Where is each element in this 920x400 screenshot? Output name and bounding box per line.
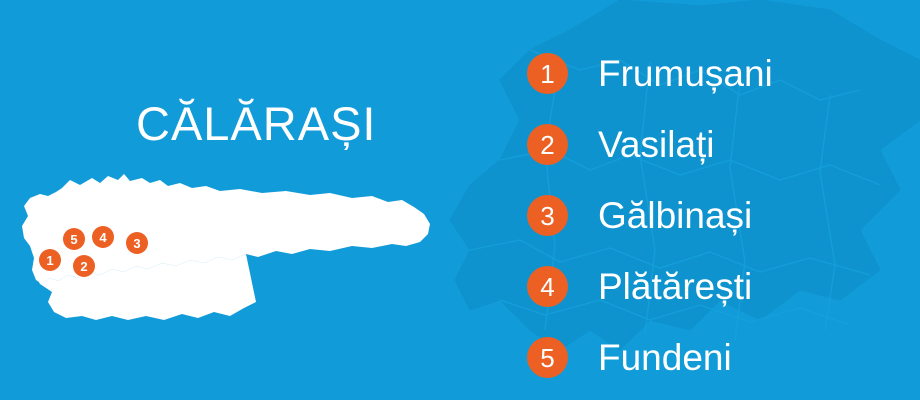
map-marker-1[interactable]: 1 <box>39 249 61 271</box>
legend-label-5: Fundeni <box>598 339 732 376</box>
legend-item-vasilati[interactable]: 2 Vasilați <box>527 109 907 180</box>
map-marker-5[interactable]: 5 <box>63 228 85 250</box>
region-title: CĂLĂRAȘI <box>136 100 376 147</box>
legend-item-fundeni[interactable]: 5 Fundeni <box>527 322 907 393</box>
legend-badge-2: 2 <box>527 124 568 165</box>
legend-badge-3: 3 <box>527 195 568 236</box>
map-infographic: CĂLĂRAȘI 1 2 3 4 5 1 Frumușani 2 Vasilaț… <box>0 0 920 400</box>
map-marker-2[interactable]: 2 <box>73 255 95 277</box>
legend-label-2: Vasilați <box>598 126 715 163</box>
legend-badge-1: 1 <box>527 53 568 94</box>
legend-badge-5: 5 <box>527 337 568 378</box>
calarasi-county-shape <box>0 150 460 360</box>
legend-badge-4: 4 <box>527 266 568 307</box>
legend-label-3: Gălbinași <box>598 197 752 234</box>
legend-label-1: Frumușani <box>598 55 773 92</box>
legend-item-frumusani[interactable]: 1 Frumușani <box>527 38 907 109</box>
legend-list: 1 Frumușani 2 Vasilați 3 Gălbinași 4 Plă… <box>527 38 907 393</box>
legend-item-galbinasi[interactable]: 3 Gălbinași <box>527 180 907 251</box>
legend-item-plataresti[interactable]: 4 Plătărești <box>527 251 907 322</box>
map-marker-3[interactable]: 3 <box>126 232 148 254</box>
map-marker-4[interactable]: 4 <box>92 226 114 248</box>
legend-label-4: Plătărești <box>598 268 752 305</box>
